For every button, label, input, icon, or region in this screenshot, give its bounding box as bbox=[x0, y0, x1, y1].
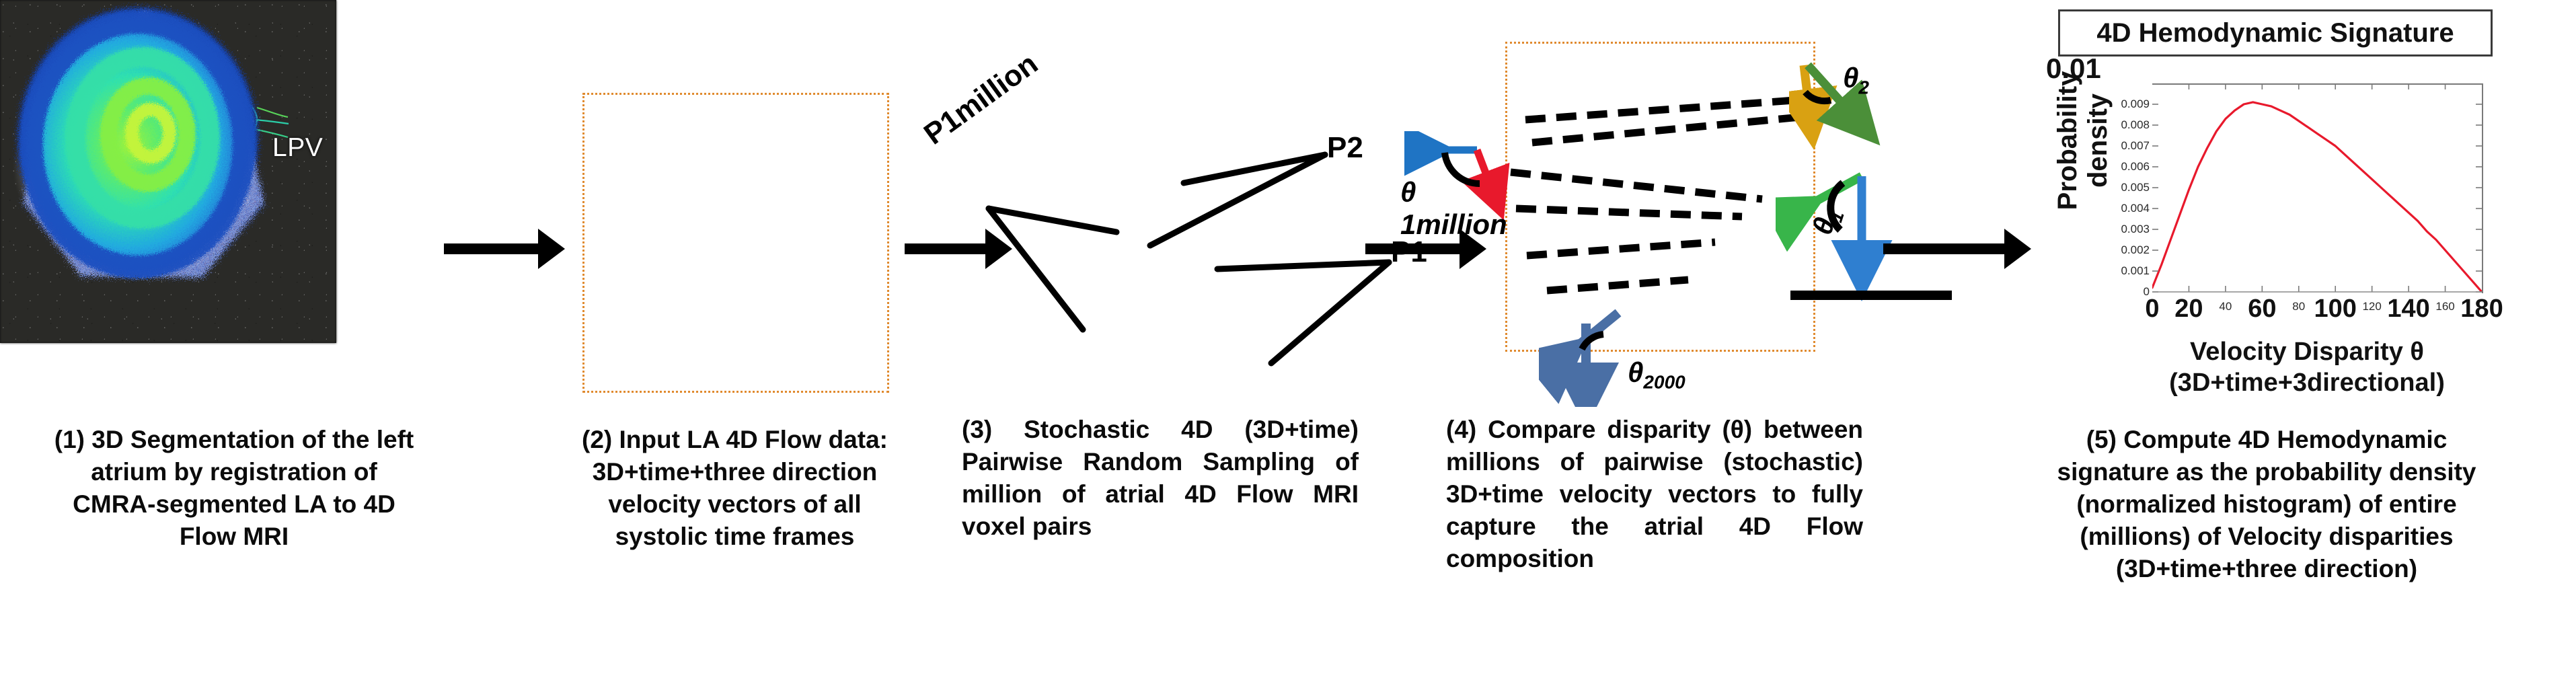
caption-step-1: (1) 3D Segmentation of the left atrium b… bbox=[52, 424, 416, 553]
signature-chart: 4D Hemodynamic Signature Probability den… bbox=[2045, 9, 2509, 406]
chart-x-tick-bold: 100 bbox=[2314, 295, 2357, 324]
caption-step-3: (3) Stochastic 4D (3D+time) Pairwise Ran… bbox=[962, 414, 1359, 543]
figure-canvas: RPV RA LPV RV LV (1) 3D Segmentation of … bbox=[0, 0, 2576, 682]
theta-2-label: θ2 bbox=[1843, 62, 1869, 98]
chart-x-tick-bold: 0 bbox=[2145, 295, 2159, 324]
panel-2-roi-box bbox=[582, 93, 889, 393]
theta-1million-label: θ 1million bbox=[1400, 176, 1507, 241]
theta-1-angle-glyph bbox=[1776, 168, 1957, 316]
chart-x-tick-bold: 20 bbox=[2174, 295, 2203, 324]
chart-y-tick: 0.004 bbox=[2085, 202, 2150, 215]
chart-tick-marks bbox=[2152, 83, 2482, 293]
point-label-p2: P2 bbox=[1327, 131, 1363, 165]
caption-step-3-text: (3) Stochastic 4D (3D+time) Pairwise Ran… bbox=[962, 414, 1359, 543]
chart-y-tick: 0.002 bbox=[2085, 243, 2150, 257]
chart-title: 4D Hemodynamic Signature bbox=[2058, 9, 2493, 56]
chart-xlabel-main: Velocity Disparity θ bbox=[2112, 337, 2502, 368]
chart-y-tick: 0.006 bbox=[2085, 160, 2150, 174]
caption-step-4-text: (4) Compare disparity (θ) between millio… bbox=[1446, 414, 1863, 575]
chart-x-tick-small: 120 bbox=[2362, 300, 2381, 313]
caption-step-5: (5) Compute 4D Hemodynamic signature as … bbox=[2031, 424, 2502, 585]
chart-x-tick-small: 40 bbox=[2219, 300, 2232, 313]
theta-2000-label: θ2000 bbox=[1628, 356, 1685, 393]
chart-x-tick-bold: 180 bbox=[2460, 295, 2503, 324]
chart-y-tick: 0.008 bbox=[2085, 118, 2150, 132]
panel-4-disparity: θ 1million θ2000 θ2 bbox=[0, 0, 282, 293]
chart-y-tick: 0 bbox=[2085, 285, 2150, 299]
chart-y-tick: 0.003 bbox=[2085, 223, 2150, 236]
chart-y-tick: 0.001 bbox=[2085, 264, 2150, 278]
chart-y-tick: 0.007 bbox=[2085, 139, 2150, 153]
chart-ymax-label: 0.01 bbox=[2046, 52, 2101, 85]
caption-step-2: (2) Input LA 4D Flow data: 3D+time+three… bbox=[568, 424, 901, 553]
chart-xlabel: Velocity Disparity θ (3D+time+3direction… bbox=[2112, 337, 2502, 398]
chart-x-tick-small: 160 bbox=[2435, 300, 2454, 313]
chart-xlabel-sub: (3D+time+3directional) bbox=[2112, 368, 2502, 399]
chart-x-tick-bold: 60 bbox=[2248, 295, 2276, 324]
caption-step-4: (4) Compare disparity (θ) between millio… bbox=[1446, 414, 1863, 575]
chart-y-tick: 0.009 bbox=[2085, 98, 2150, 111]
chart-x-tick-small: 80 bbox=[2292, 300, 2305, 313]
chart-y-tick: 0.005 bbox=[2085, 181, 2150, 194]
chart-x-tick-bold: 140 bbox=[2387, 295, 2429, 324]
la-disparity-vector-field bbox=[0, 0, 282, 289]
